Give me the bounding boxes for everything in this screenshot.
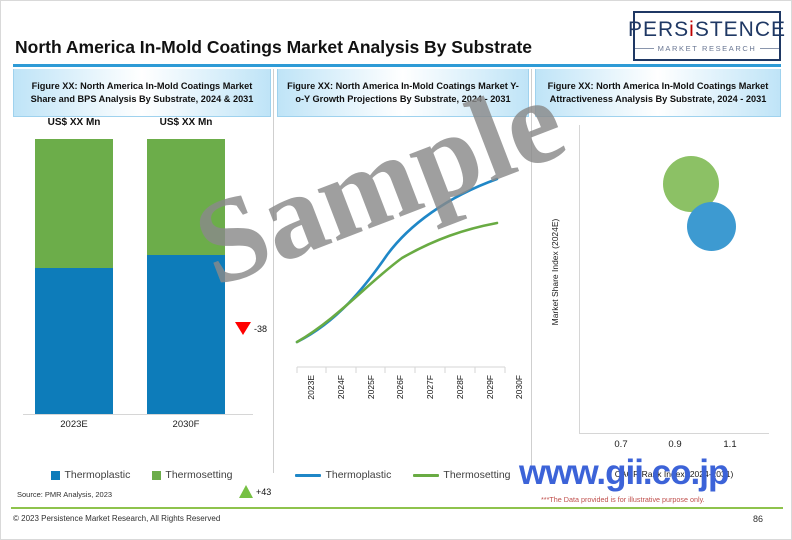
panel-attractiveness-header: Figure XX: North America In-Mold Coating…	[535, 69, 781, 117]
xtick-label: 2029F	[485, 375, 495, 399]
line-chart-xtick-labels: 2023E 2024F 2025F 2026F 2027F 2028F 2029…	[277, 367, 529, 427]
xtick-label: 2023E	[306, 375, 316, 400]
page-title: North America In-Mold Coatings Market An…	[15, 37, 532, 58]
bar-stack-2023e	[35, 139, 113, 414]
bar-unit-label-right: US$ XX Mn	[147, 117, 225, 128]
xtick-label: 2027F	[425, 375, 435, 399]
panel-attractiveness-body: Market Share Index (2024E) 0.7 0.9 1.1 C…	[535, 117, 781, 521]
triangle-down-icon	[235, 322, 251, 335]
panel-share-bps-header: Figure XX: North America In-Mold Coating…	[13, 69, 271, 117]
legend-label: Thermosetting	[165, 469, 232, 481]
source-note: Source: PMR Analysis, 2023	[17, 490, 112, 499]
bps-indicator-positive: +43	[239, 485, 271, 498]
bar-unit-label-left: US$ XX Mn	[35, 117, 113, 128]
logo-wordmark-part2: STENCE	[695, 18, 786, 41]
legend-line-icon	[295, 474, 321, 477]
bubble-chart-xaxis	[579, 433, 769, 434]
bubble-chart-ylabel: Market Share Index (2024E)	[550, 197, 560, 347]
bubble-chart: Market Share Index (2024E) 0.7 0.9 1.1 C…	[535, 117, 781, 521]
legend-label: Thermoplastic	[64, 469, 130, 481]
bubble-xtick-label: 1.1	[723, 439, 736, 450]
disclaimer-note: ***The Data provided is for illustrative…	[541, 495, 705, 504]
title-underline	[13, 64, 781, 67]
bps-value-negative: -38	[254, 324, 267, 334]
stacked-bar-chart: US$ XX Mn 2023E US$ XX Mn 2030F	[13, 117, 271, 457]
panel-attractiveness-title: Figure XX: North America In-Mold Coating…	[542, 80, 774, 104]
xtick-label: 2026F	[395, 375, 405, 399]
panel-yoy-growth-body: 2023E 2024F 2025F 2026F 2027F 2028F 2029…	[277, 117, 529, 521]
panel-share-bps-title: Figure XX: North America In-Mold Coating…	[20, 80, 264, 104]
panel-share-bps: Figure XX: North America In-Mold Coating…	[13, 69, 271, 521]
logo-rule-right	[760, 48, 779, 49]
bar-segment-thermosetting[interactable]	[35, 139, 113, 268]
bubble-chart-yaxis	[579, 125, 580, 433]
panel-yoy-growth: Figure XX: North America In-Mold Coating…	[277, 69, 529, 521]
bubble-xtick-label: 0.9	[668, 439, 681, 450]
bar-xlabel-2023e: 2023E	[35, 419, 113, 430]
triangle-up-icon	[239, 485, 253, 498]
legend-label: Thermoplastic	[325, 469, 391, 481]
panel-attractiveness: Figure XX: North America In-Mold Coating…	[535, 69, 781, 521]
logo-wordmark: PERSiSTENCE	[628, 19, 786, 40]
legend-label: Thermosetting	[443, 469, 510, 481]
xtick-label: 2025F	[366, 375, 376, 399]
bubble-chart-xlabel: CAGR Rank Index (2024-2031)	[579, 469, 769, 479]
xtick-label: 2030F	[514, 375, 524, 399]
legend-item-thermosetting[interactable]: Thermosetting	[152, 469, 232, 481]
legend-swatch-icon	[152, 471, 161, 480]
copyright-note: © 2023 Persistence Market Research, All …	[13, 514, 220, 523]
line-chart-svg	[277, 117, 529, 407]
page-number: 86	[753, 514, 763, 524]
slide-canvas: PERSiSTENCE MARKET RESEARCH North Americ…	[0, 0, 792, 540]
bar-baseline	[23, 414, 253, 415]
company-logo: PERSiSTENCE MARKET RESEARCH	[633, 11, 781, 61]
logo-tagline: MARKET RESEARCH	[658, 44, 757, 53]
legend-swatch-icon	[51, 471, 60, 480]
logo-wordmark-part1: PERS	[628, 18, 689, 41]
panel-share-bps-body: US$ XX Mn 2023E US$ XX Mn 2030F	[13, 117, 271, 521]
panel-yoy-growth-header: Figure XX: North America In-Mold Coating…	[277, 69, 529, 117]
line-chart: 2023E 2024F 2025F 2026F 2027F 2028F 2029…	[277, 117, 529, 457]
bps-value-positive: +43	[256, 487, 271, 497]
legend-item-thermoplastic[interactable]: Thermoplastic	[51, 469, 130, 481]
bar-segment-thermosetting[interactable]	[147, 139, 225, 255]
bar-chart-legend: Thermoplastic Thermosetting	[13, 469, 271, 481]
bar-segment-thermoplastic[interactable]	[147, 255, 225, 414]
xtick-label: 2024F	[336, 375, 346, 399]
panel-divider-1	[273, 69, 274, 473]
xtick-label: 2028F	[455, 375, 465, 399]
footer-rule	[11, 507, 783, 509]
panel-yoy-growth-title: Figure XX: North America In-Mold Coating…	[284, 80, 522, 104]
bar-segment-thermoplastic[interactable]	[35, 268, 113, 414]
bar-xlabel-2030f: 2030F	[147, 419, 225, 430]
logo-tagline-row: MARKET RESEARCH	[635, 44, 779, 53]
bar-stack-2030f	[147, 139, 225, 414]
legend-line-icon	[413, 474, 439, 477]
bubble-thermoplastic[interactable]	[687, 202, 736, 251]
bubble-xtick-label: 0.7	[614, 439, 627, 450]
line-chart-legend: Thermoplastic Thermosetting	[277, 469, 529, 481]
panel-divider-2	[531, 69, 532, 473]
legend-item-thermosetting[interactable]: Thermosetting	[413, 469, 510, 481]
logo-rule-left	[635, 48, 654, 49]
legend-item-thermoplastic[interactable]: Thermoplastic	[295, 469, 391, 481]
bps-indicator-negative: -38	[235, 322, 267, 335]
